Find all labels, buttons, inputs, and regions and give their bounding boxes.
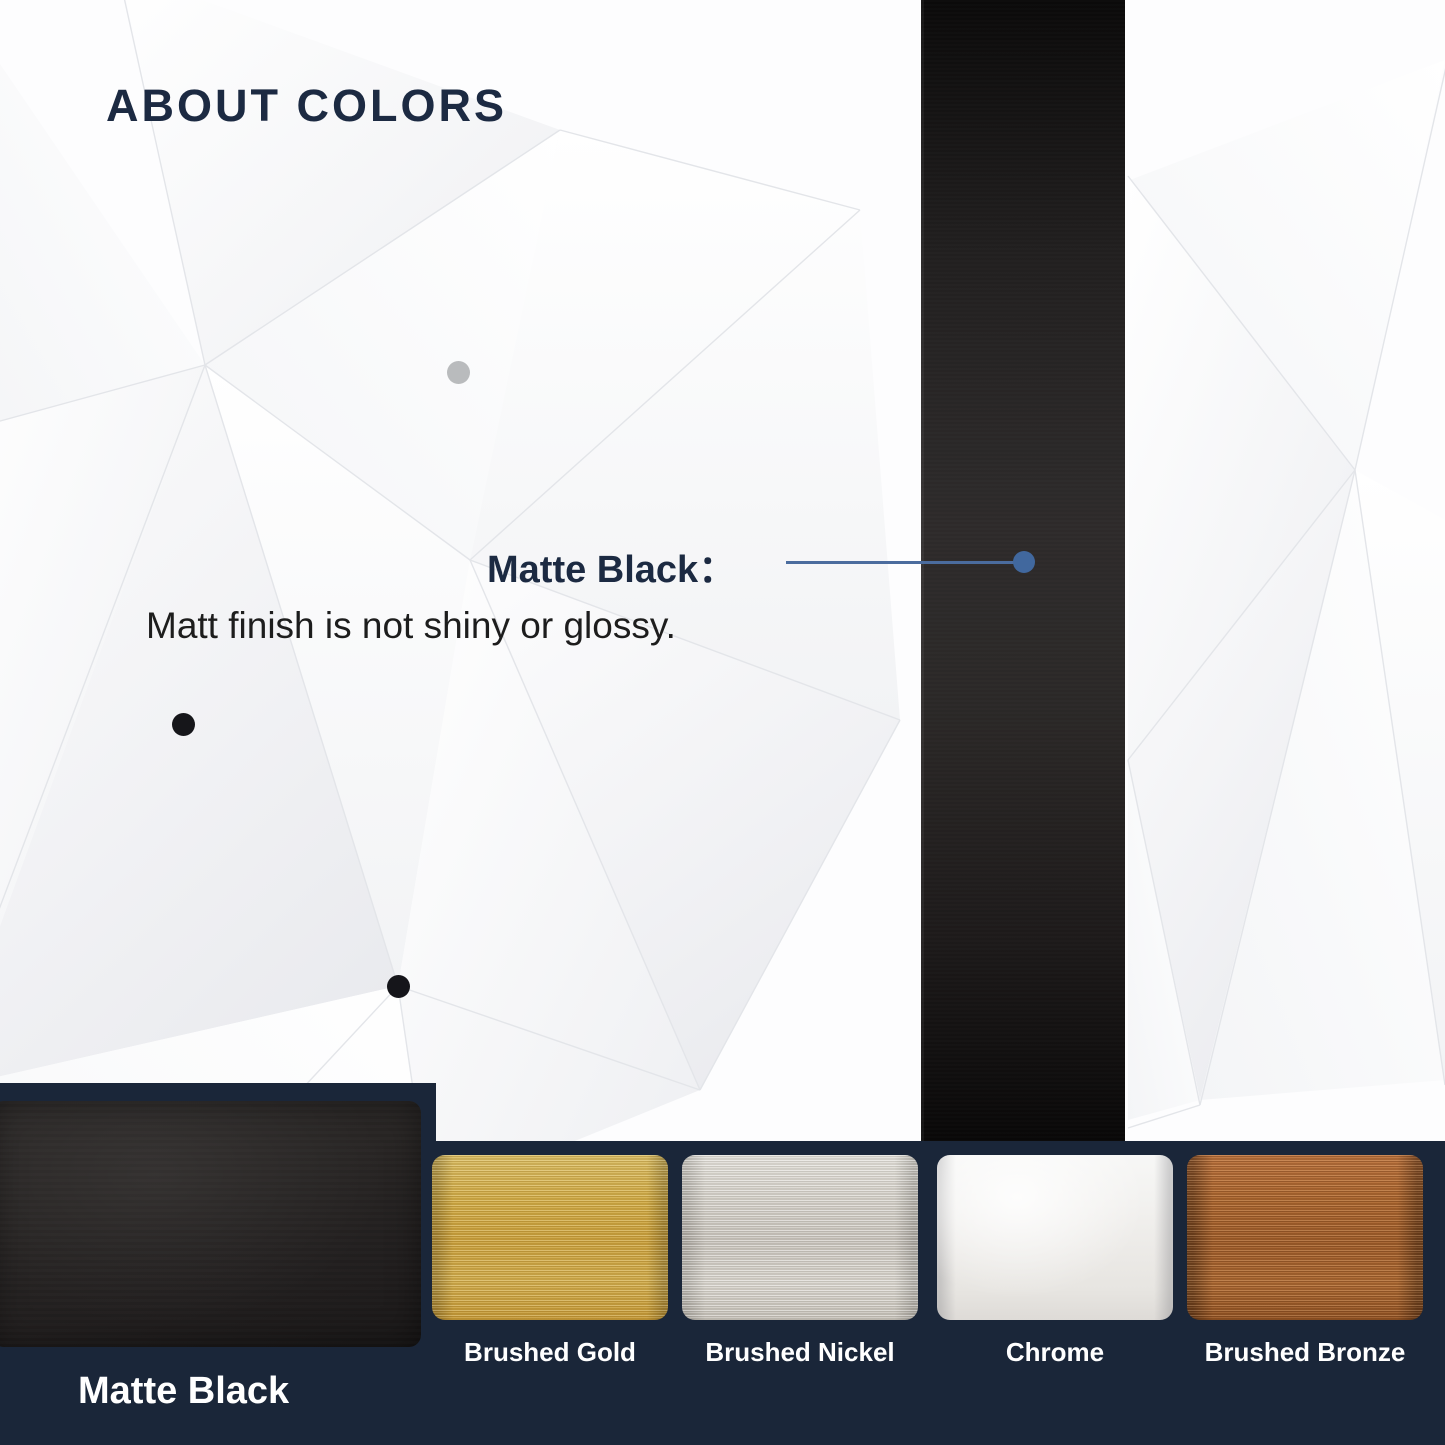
swatch-cell-brushed-gold[interactable]: Brushed Gold (432, 1155, 668, 1368)
swatch-tile-chrome[interactable] (937, 1155, 1173, 1320)
swatch-tile-brushed-gold[interactable] (432, 1155, 668, 1320)
callout-description: Matt finish is not shiny or glossy. (146, 605, 676, 647)
callout-title: Matte Black： (487, 538, 736, 593)
swatch-cell-brushed-bronze[interactable]: Brushed Bronze (1187, 1155, 1423, 1368)
swatch-matte-black[interactable] (0, 1101, 421, 1347)
swatch-label-matte-black: Matte Black (78, 1370, 289, 1413)
decorative-dot-black-lower (387, 975, 410, 998)
decorative-dot-black-upper (172, 713, 195, 736)
callout-leader-line (786, 561, 1026, 564)
swatch-tile-brushed-nickel[interactable] (682, 1155, 918, 1320)
page-title: ABOUT COLORS (106, 80, 507, 132)
swatch-label-brushed-gold: Brushed Gold (432, 1337, 668, 1368)
swatch-cell-chrome[interactable]: Chrome (937, 1155, 1173, 1368)
decorative-dot-grey (447, 361, 470, 384)
swatch-label-brushed-bronze: Brushed Bronze (1187, 1337, 1423, 1368)
swatch-label-brushed-nickel: Brushed Nickel (682, 1337, 918, 1368)
swatch-label-chrome: Chrome (937, 1337, 1173, 1368)
callout-leader-dot-icon (1013, 551, 1035, 573)
swatch-cell-brushed-nickel[interactable]: Brushed Nickel (682, 1155, 918, 1368)
swatch-tile-brushed-bronze[interactable] (1187, 1155, 1423, 1320)
about-colors-infographic: ABOUT COLORS Matte Black： Matt finish is… (0, 0, 1445, 1445)
